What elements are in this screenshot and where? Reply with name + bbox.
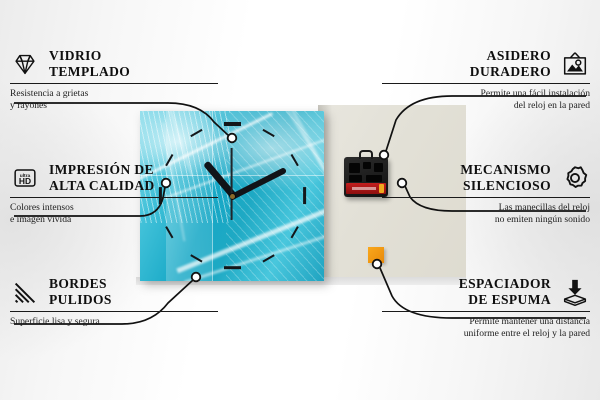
feature-header: ESPACIADOR DE ESPUMA: [382, 276, 590, 307]
ultra-hd-icon: ultra HD: [10, 163, 40, 193]
feature-divider: [10, 197, 218, 198]
feature-subtitle-line2: uniforme entre el reloj y la pared: [382, 328, 590, 340]
feature-impresion-hd: ultra HD IMPRESIÓN DE ALTA CALIDAD Color…: [10, 162, 218, 225]
feature-subtitle-line2: del reloj en la pared: [382, 100, 590, 112]
mechanism-hanger: [359, 150, 373, 159]
feature-subtitle-line1: Permite una fácil instalación: [382, 88, 590, 100]
feature-divider: [10, 311, 218, 312]
gear-icon: [560, 163, 590, 193]
feature-subtitle-line1: Resistencia a grietas: [10, 88, 218, 100]
polished-edges-icon: [10, 277, 40, 307]
aa-battery: [346, 183, 386, 194]
feature-header: ultra HD IMPRESIÓN DE ALTA CALIDAD: [10, 162, 218, 193]
clock-tick: [224, 266, 241, 269]
mechanism-slot: [366, 175, 382, 182]
feature-divider: [382, 83, 590, 84]
feature-bordes-pulidos: BORDES PULIDOS Superficie lisa y segura: [10, 276, 218, 328]
feature-title: BORDES PULIDOS: [49, 276, 112, 307]
feature-subtitle-line2: y rayones: [10, 100, 218, 112]
feature-subtitle-line1: Colores intensos: [10, 202, 218, 214]
feature-asidero-duradero: ASIDERO DURADERO Permite una fácil insta…: [382, 48, 590, 111]
feature-title: MECANISMO SILENCIOSO: [460, 162, 551, 193]
feature-subtitle-line1: Las manecillas del reloj: [382, 202, 590, 214]
clock-center-pin: [230, 194, 235, 199]
feature-header: VIDRIO TEMPLADO: [10, 48, 218, 79]
feature-subtitle-line2: no emiten ningún sonido: [382, 214, 590, 226]
feature-mecanismo-silencioso: MECANISMO SILENCIOSO Las manecillas del …: [382, 162, 590, 225]
infographic-canvas: VIDRIO TEMPLADO Resistencia a grietas y …: [0, 0, 600, 400]
clock-tick: [302, 187, 305, 204]
picture-hanger-icon: [560, 49, 590, 79]
feature-title: ASIDERO DURADERO: [470, 48, 551, 79]
feature-vidrio-templado: VIDRIO TEMPLADO Resistencia a grietas y …: [10, 48, 218, 111]
clock-second-hand: [231, 148, 233, 220]
feature-espaciador-espuma: ESPACIADOR DE ESPUMA Permite mantener un…: [382, 276, 590, 339]
feature-subtitle-line1: Permite mantener una distancia: [382, 316, 590, 328]
feature-header: BORDES PULIDOS: [10, 276, 218, 307]
feature-divider: [382, 311, 590, 312]
feature-header: MECANISMO SILENCIOSO: [382, 162, 590, 193]
feature-divider: [382, 197, 590, 198]
mechanism-slot: [349, 175, 362, 182]
foam-spacer-icon: [560, 277, 590, 307]
mechanism-slot: [363, 162, 371, 169]
feature-header: ASIDERO DURADERO: [382, 48, 590, 79]
feature-subtitle-line2: e imagen vívida: [10, 214, 218, 226]
diamond-icon: [10, 49, 40, 79]
feature-title: IMPRESIÓN DE ALTA CALIDAD: [49, 162, 155, 193]
feature-divider: [10, 83, 218, 84]
clock-tick: [224, 122, 241, 125]
foam-spacer: [368, 247, 384, 263]
feature-subtitle-line1: Superficie lisa y segura: [10, 316, 218, 328]
feature-title: ESPACIADOR DE ESPUMA: [459, 276, 551, 307]
battery-label: [352, 187, 376, 190]
feature-title: VIDRIO TEMPLADO: [49, 48, 130, 79]
ultra-hd-icon-large-text: HD: [19, 176, 31, 186]
mechanism-slot: [349, 163, 360, 173]
